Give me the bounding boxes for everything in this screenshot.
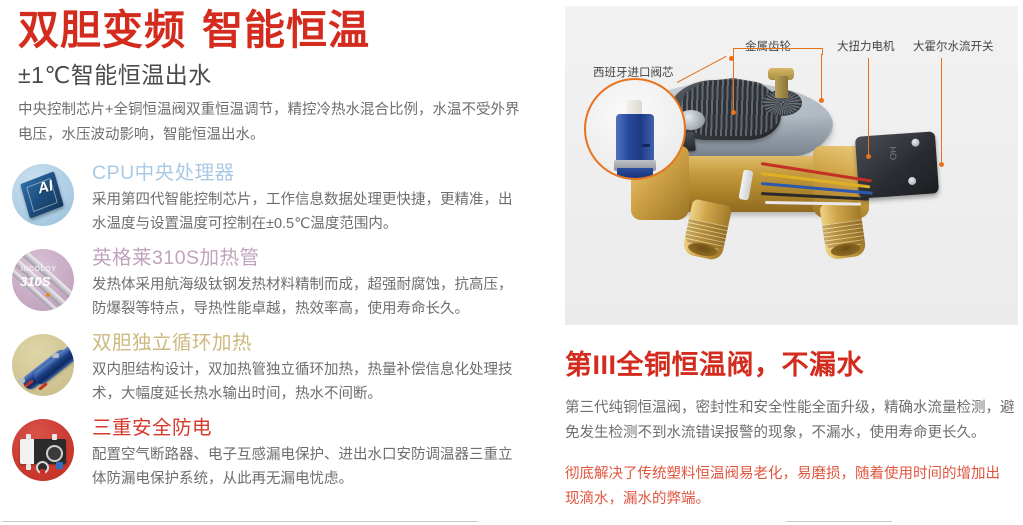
- valve-section-highlight-note: 彻底解决了传统塑料恒温阀易老化，易磨损，随着使用时间的增加出现滴水，漏水的弊端。: [565, 462, 1013, 512]
- valve-core-notch: [642, 144, 650, 147]
- valve-core-base: [617, 168, 653, 178]
- bottom-divider-right: [786, 521, 892, 522]
- wire-black: [761, 192, 869, 201]
- magnifier-valve-core: [584, 78, 686, 180]
- feature-item-dual-tank: 双胆独立循环加热 双内胆结构设计，双加热管独立循环加热，热量补偿信息化处理技术，…: [0, 330, 545, 410]
- heater-port: [26, 434, 31, 440]
- left-content-column: 双胆变频智能恒温 ±1℃智能恒温出水 中央控制芯片+全铜恒温阀双重恒温调节，精控…: [0, 0, 545, 525]
- callout-anchor-dot: [939, 162, 944, 167]
- callout-label-hall-flow-switch: 大霍尔水流开关: [913, 40, 994, 54]
- heater-outlet-marker: [40, 469, 45, 474]
- heater-port: [26, 464, 31, 470]
- feature-desc-dual-tank: 双内胆结构设计，双加热管独立循环加热，热量补偿信息化处理技术，大幅度延长热水输出…: [92, 358, 520, 406]
- dual-tank-icon: [12, 334, 74, 396]
- bottom-divider-left: [2, 521, 478, 522]
- feature-title-dual-tank: 双胆独立循环加热: [92, 330, 545, 356]
- feature-title-safety: 三重安全防电: [92, 415, 545, 441]
- motor-shaft: [775, 76, 788, 98]
- tank-cylinder: [31, 342, 74, 387]
- incoloy-icon-label-model: 310S: [20, 274, 50, 289]
- feature-item-incoloy: INCOLOY 310S 英格莱310S加热管 发热体采用航海级钛钢发热材料精制…: [0, 245, 545, 325]
- callout-bracket-metal-gear: [733, 48, 823, 55]
- callout-leader-line: [733, 54, 734, 112]
- heater-port: [52, 434, 57, 440]
- callout-anchor-dot: [729, 56, 734, 61]
- valve-section-title: 第III全铜恒温阀，不漏水: [565, 348, 864, 382]
- callout-leader-line: [677, 56, 727, 83]
- page-title-part1: 双胆变频: [18, 7, 186, 53]
- feature-desc-safety: 配置空气断路器、电子互感漏电保护、进出水口安防调温器三重立体防漏电保护系统，从此…: [92, 443, 520, 491]
- callout-anchor-dot: [866, 154, 871, 159]
- product-feature-page: 双胆变频智能恒温 ±1℃智能恒温出水 中央控制芯片+全铜恒温阀双重恒温调节，精控…: [0, 0, 1023, 525]
- callout-leader-line: [868, 58, 869, 156]
- callout-anchor-dot: [731, 110, 736, 115]
- tube-marker-dot: [46, 293, 50, 297]
- callout-leader-line: [941, 58, 942, 164]
- tank-cap: [52, 353, 59, 358]
- intro-paragraph: 中央控制芯片+全铜恒温阀双重恒温调节，精控冷热水混合比例，水温不受外界电压，水压…: [18, 98, 523, 148]
- incoloy-heating-tube-icon: INCOLOY 310S: [12, 249, 74, 311]
- page-subtitle: ±1℃智能恒温出水: [18, 60, 212, 90]
- valve-section-description: 第三代纯铜恒温阀，密封性和安全性能全面升级，精确水流量检测，避免发生检测不到水流…: [565, 396, 1017, 446]
- valve-core-body: [616, 114, 654, 164]
- wire-white: [765, 201, 861, 206]
- feature-desc-cpu: 采用第四代智能控制芯片，工作信息数据处理更快捷，更精准，出水温度与设置温度可控制…: [92, 188, 520, 236]
- feature-title-cpu: CPU中央处理器: [92, 160, 545, 186]
- safety-protection-icon: [12, 419, 74, 481]
- product-photo-valve-assembly: HO 金属齿轮 大扭力电机 大霍尔水流开关: [565, 6, 1018, 325]
- switch-screw: [908, 177, 917, 186]
- heater-knob: [46, 445, 63, 462]
- tank-cap: [18, 378, 25, 383]
- heater-inlet-marker: [56, 462, 63, 469]
- switch-screw: [911, 138, 920, 147]
- switch-marking: HO: [887, 146, 898, 160]
- cpu-chip-icon: AI: [12, 164, 74, 226]
- feature-title-incoloy: 英格莱310S加热管: [92, 245, 545, 271]
- callout-leader-line: [821, 54, 822, 100]
- feature-item-cpu: AI CPU中央处理器 采用第四代智能控制芯片，工作信息数据处理更快捷，更精准，…: [0, 160, 545, 240]
- incoloy-icon-label-brand: INCOLOY: [21, 266, 56, 273]
- page-title: 双胆变频智能恒温: [18, 6, 370, 54]
- callout-label-high-torque-motor: 大扭力电机: [837, 40, 895, 54]
- page-title-part2: 智能恒温: [202, 7, 370, 53]
- feature-list: AI CPU中央处理器 采用第四代智能控制芯片，工作信息数据处理更快捷，更精准，…: [0, 160, 545, 500]
- right-content-column: HO 金属齿轮 大扭力电机 大霍尔水流开关: [552, 0, 1023, 525]
- callout-anchor-dot: [819, 98, 824, 103]
- feature-desc-incoloy: 发热体采用航海级钛钢发热材料精制而成，超强耐腐蚀，抗高压，防爆裂等特点，导热性能…: [92, 273, 520, 321]
- feature-item-safety: 三重安全防电 配置空气断路器、电子互感漏电保护、进出水口安防调温器三重立体防漏电…: [0, 415, 545, 495]
- wire-harness: [761, 156, 877, 212]
